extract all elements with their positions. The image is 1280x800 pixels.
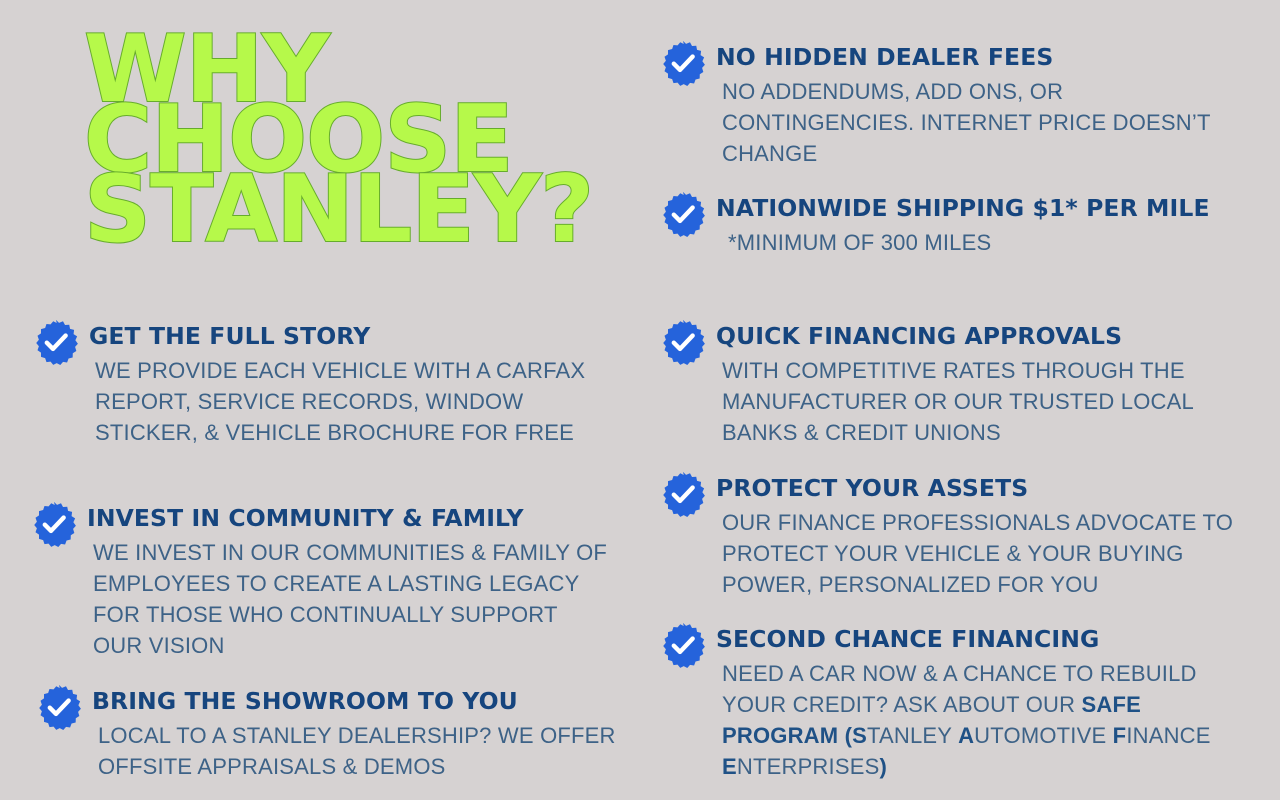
feature-body: NEED A CAR NOW & A CHANCE TO REBUILD YOU…: [716, 658, 1260, 782]
feature-text: BRING THE SHOWROOM TO YOU LOCAL TO A STA…: [82, 683, 616, 782]
feature-protect-your-assets: PROTECT YOUR ASSETS OUR FINANCE PROFESSI…: [660, 470, 1260, 600]
feature-text: INVEST IN COMMUNITY & FAMILY WE INVEST I…: [77, 500, 611, 661]
feature-text: QUICK FINANCING APPROVALS WITH COMPETITI…: [706, 318, 1260, 448]
feature-bring-the-showroom-to-you: BRING THE SHOWROOM TO YOU LOCAL TO A STA…: [36, 683, 616, 782]
feature-text: NATIONWIDE SHIPPING $1* PER MILE *MINIMU…: [706, 190, 1260, 258]
feature-no-hidden-dealer-fees: NO HIDDEN DEALER FEES NO ADDENDUMS, ADD …: [660, 39, 1260, 169]
feature-title: NATIONWIDE SHIPPING $1* PER MILE: [716, 190, 1260, 227]
page-title: WHY CHOOSE STANLEY?: [84, 26, 604, 244]
check-badge-icon: [660, 622, 706, 668]
feature-body: WITH COMPETITIVE RATES THROUGH THE MANUF…: [716, 355, 1260, 448]
feature-text: SECOND CHANCE FINANCING NEED A CAR NOW &…: [706, 621, 1260, 782]
feature-title: INVEST IN COMMUNITY & FAMILY: [87, 500, 611, 537]
check-badge-icon: [660, 471, 706, 517]
feature-quick-financing-approvals: QUICK FINANCING APPROVALS WITH COMPETITI…: [660, 318, 1260, 448]
feature-second-chance-financing: SECOND CHANCE FINANCING NEED A CAR NOW &…: [660, 621, 1260, 782]
check-badge-icon: [660, 40, 706, 86]
check-badge-icon: [36, 684, 82, 730]
feature-body: *MINIMUM OF 300 MILES: [716, 227, 1260, 258]
feature-text: PROTECT YOUR ASSETS OUR FINANCE PROFESSI…: [706, 470, 1260, 600]
feature-body: NO ADDENDUMS, ADD ONS, OR CONTINGENCIES.…: [716, 76, 1260, 169]
feature-body: LOCAL TO A STANLEY DEALERSHIP? WE OFFER …: [92, 720, 616, 782]
feature-title: QUICK FINANCING APPROVALS: [716, 318, 1260, 355]
feature-title: NO HIDDEN DEALER FEES: [716, 39, 1260, 76]
feature-body: WE INVEST IN OUR COMMUNITIES & FAMILY OF…: [87, 537, 611, 661]
feature-nationwide-shipping: NATIONWIDE SHIPPING $1* PER MILE *MINIMU…: [660, 190, 1260, 258]
feature-title: BRING THE SHOWROOM TO YOU: [92, 683, 616, 720]
feature-invest-in-community-family: INVEST IN COMMUNITY & FAMILY WE INVEST I…: [31, 500, 611, 661]
feature-body: OUR FINANCE PROFESSIONALS ADVOCATE TO PR…: [716, 507, 1260, 600]
check-badge-icon: [31, 501, 77, 547]
feature-title: SECOND CHANCE FINANCING: [716, 621, 1260, 658]
why-choose-stanley-poster: WHY CHOOSE STANLEY? GET THE FULL STORY W…: [0, 0, 1280, 800]
check-badge-icon: [660, 319, 706, 365]
feature-text: GET THE FULL STORY WE PROVIDE EACH VEHIC…: [79, 318, 613, 448]
feature-text: NO HIDDEN DEALER FEES NO ADDENDUMS, ADD …: [706, 39, 1260, 169]
check-badge-icon: [660, 191, 706, 237]
check-badge-icon: [33, 319, 79, 365]
feature-get-the-full-story: GET THE FULL STORY WE PROVIDE EACH VEHIC…: [33, 318, 613, 448]
feature-body: WE PROVIDE EACH VEHICLE WITH A CARFAX RE…: [89, 355, 613, 448]
feature-title: GET THE FULL STORY: [89, 318, 613, 355]
feature-title: PROTECT YOUR ASSETS: [716, 470, 1260, 507]
headline-line-3: STANLEY?: [84, 174, 604, 244]
